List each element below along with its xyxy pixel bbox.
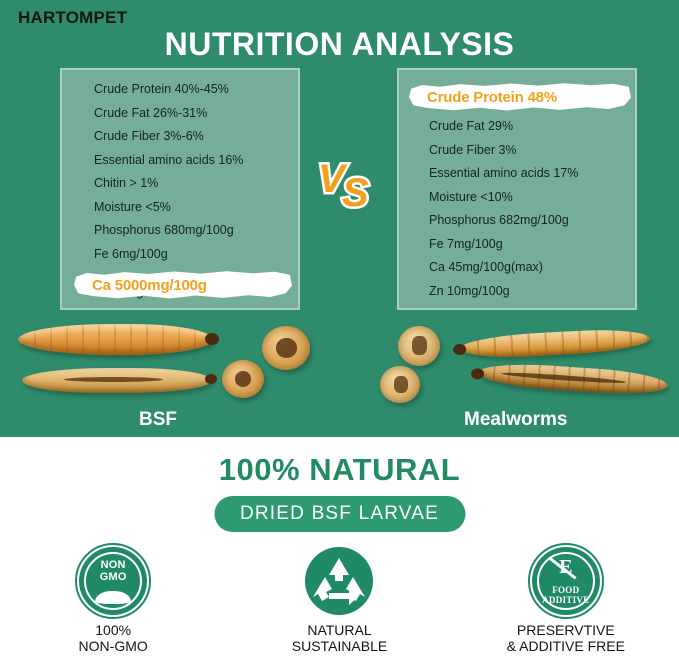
badge-caption: PRESERVTIVE & ADDITIVE FREE (466, 622, 666, 654)
brand-logo: HARTOMPET (18, 8, 127, 28)
bsf-larva-image (262, 326, 310, 370)
nutrition-list-mealworms: Crude Protein 48% Crude Fat 29% Crude Fi… (399, 70, 635, 308)
non-gmo-icon-text: NON GMO (79, 560, 147, 583)
nutrition-item: Ca 45mg/100g(max) (399, 260, 635, 275)
bsf-larva-image (22, 368, 212, 393)
nutrition-item-highlight-label: Crude Protein 48% (399, 82, 635, 112)
natural-claims-section: 100% NATURAL DRIED BSF LARVAE NON GMO 10… (0, 437, 679, 666)
nutrition-panel-bsf: Crude Protein 40%-45% Crude Fat 26%-31% … (60, 68, 300, 310)
nutrition-item-highlighted: Ca 5000mg/100g (62, 270, 298, 278)
food-additive-icon-text: FOOD ADDITIVE (532, 586, 600, 605)
mealworm-image (477, 360, 668, 397)
badge-caption: NATURAL SUSTAINABLE (239, 622, 439, 654)
nutrition-item: Crude Fiber 3%-6% (62, 129, 298, 144)
no-food-additive-icon: E FOOD ADDITIVE (532, 547, 600, 615)
nutrition-item-highlighted: Crude Protein 48% (399, 82, 635, 112)
nutrition-item: Moisture <10% (399, 190, 635, 205)
badge-caption: 100% NON-GMO (13, 622, 213, 654)
nutrition-item: Phosphorus 682mg/100g (399, 213, 635, 228)
leaf-icon (95, 591, 131, 604)
nutrition-item: Phosphorus 680mg/100g (62, 223, 298, 238)
nutrition-item: Fe 6mg/100g (62, 247, 298, 262)
badge-natural-sustainable: NATURAL SUSTAINABLE (239, 547, 439, 654)
mealworm-image (380, 366, 420, 403)
badge-non-gmo: NON GMO 100% NON-GMO (13, 547, 213, 654)
e-letter: E (532, 556, 600, 579)
nutrition-panel-mealworms: Crude Protein 48% Crude Fat 29% Crude Fi… (397, 68, 637, 310)
nutrition-item: Chitin > 1% (62, 176, 298, 191)
larvae-imagery (0, 312, 679, 407)
nutrition-item: Essential amino acids 16% (62, 153, 298, 168)
nutrition-item: Crude Fat 29% (399, 119, 635, 134)
nutrition-item: Zn 10mg/100g (399, 284, 635, 299)
nutrition-item: Fe 7mg/100g (399, 237, 635, 252)
nutrition-item: Crude Fat 26%-31% (62, 106, 298, 121)
recycle-icon (305, 547, 373, 615)
bsf-larva-image (222, 360, 264, 398)
infographic-page: HARTOMPET NUTRITION ANALYSIS Crude Prote… (0, 0, 679, 666)
recycle-arrows-icon (305, 547, 373, 615)
nutrition-item-highlight-label: Ca 5000mg/100g (62, 270, 298, 300)
page-title: NUTRITION ANALYSIS (0, 26, 679, 63)
natural-headline: 100% NATURAL (0, 452, 679, 488)
versus-badge: V S (316, 163, 376, 219)
product-label-mealworms: Mealworms (464, 409, 567, 431)
mealworm-image (398, 326, 440, 366)
product-label-bsf: BSF (139, 409, 177, 431)
versus-letter-v: V (318, 157, 345, 202)
nutrition-analysis-section: HARTOMPET NUTRITION ANALYSIS Crude Prote… (0, 0, 679, 437)
versus-letter-s: S (342, 171, 369, 216)
product-type-pill: DRIED BSF LARVAE (214, 496, 465, 532)
mealworm-image (460, 327, 651, 360)
nutrition-item: Crude Protein 40%-45% (62, 82, 298, 97)
nutrition-item: Crude Fiber 3% (399, 143, 635, 158)
badge-additive-free: E FOOD ADDITIVE PRESERVTIVE & ADDITIVE F… (466, 547, 666, 654)
certification-badges: NON GMO 100% NON-GMO (0, 547, 679, 654)
nutrition-item: Essential amino acids 17% (399, 166, 635, 181)
non-gmo-icon: NON GMO (79, 547, 147, 615)
bsf-larva-image (18, 324, 213, 355)
nutrition-list-bsf: Crude Protein 40%-45% Crude Fat 26%-31% … (62, 70, 298, 308)
nutrition-item: Moisture <5% (62, 200, 298, 215)
